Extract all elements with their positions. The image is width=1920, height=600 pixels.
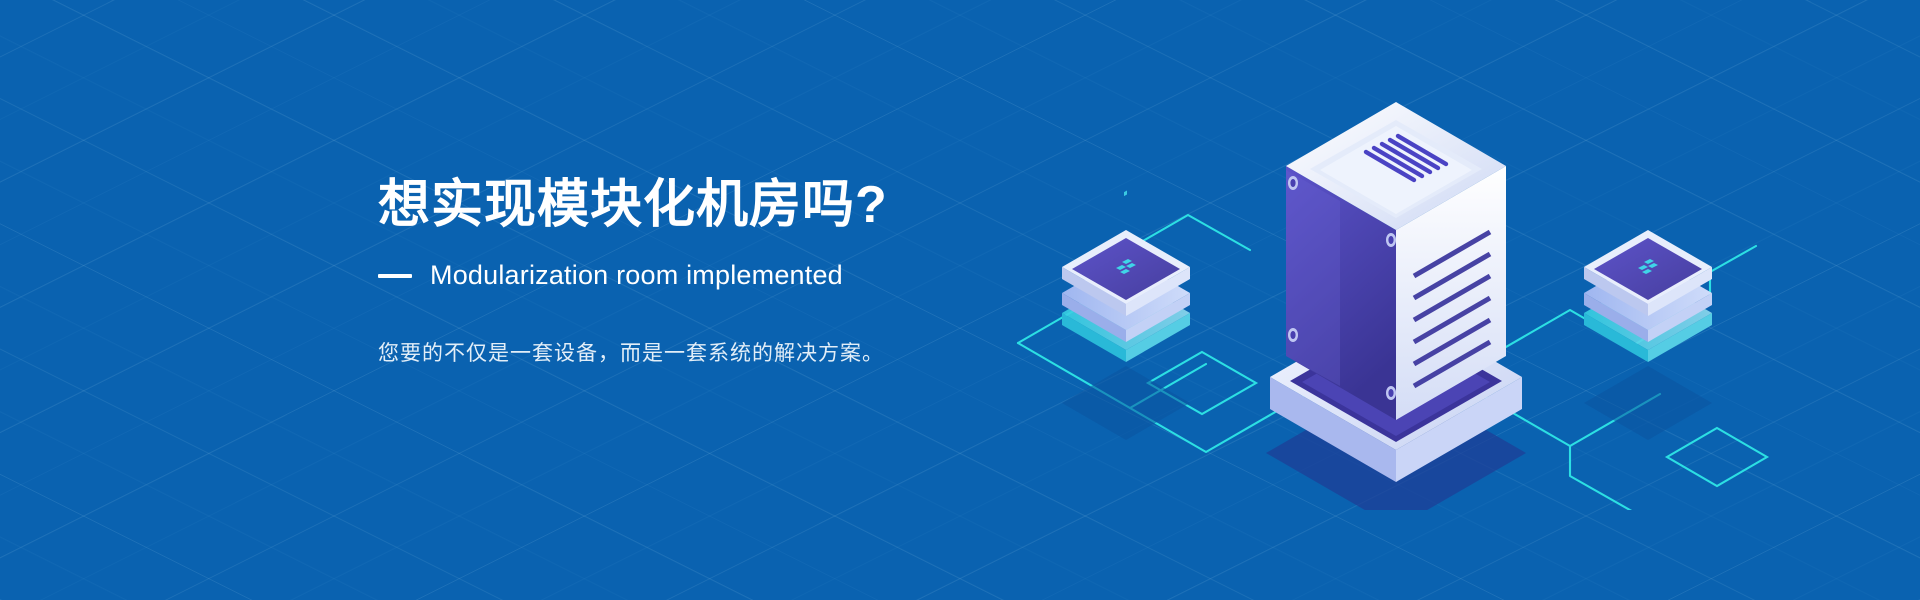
isometric-server-illustration bbox=[1010, 90, 1800, 510]
server-tower bbox=[1286, 102, 1506, 420]
divider-dash-icon bbox=[378, 274, 412, 278]
diamond-outline-icon bbox=[1667, 428, 1767, 486]
hero-banner: 想实现模块化机房吗? Modularization room implement… bbox=[0, 0, 1920, 600]
chip-module-left bbox=[1062, 190, 1190, 440]
page-subtitle: Modularization room implemented bbox=[430, 260, 843, 291]
chip-module-right bbox=[1584, 230, 1712, 440]
